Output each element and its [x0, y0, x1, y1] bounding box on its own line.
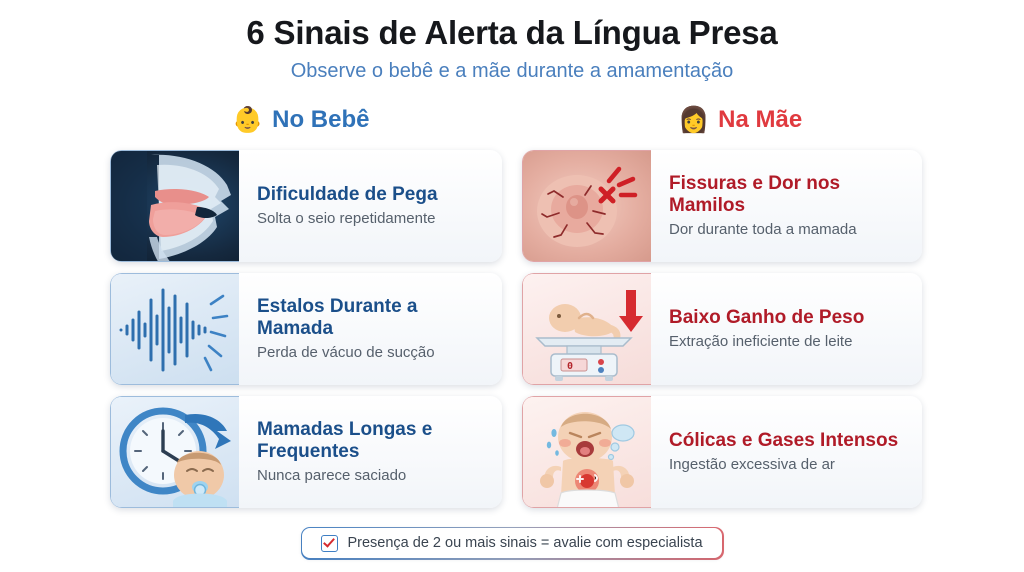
page-title: 6 Sinais de Alerta da Língua Presa: [0, 14, 1024, 52]
clock-and-sleeping-baby-illustration: [110, 396, 239, 508]
baby-face-icon: 👶: [232, 108, 263, 133]
cracked-nipple-illustration: [522, 150, 651, 262]
infographic-root: 6 Sinais de Alerta da Língua Presa Obser…: [0, 0, 1024, 572]
sign-subtitle: Perda de vácuo de sucção: [257, 344, 486, 362]
sign-subtitle: Extração ineficiente de leite: [669, 333, 906, 351]
sign-card-baby-1-text: Dificuldade de Pega Solta o seio repetid…: [239, 150, 502, 262]
sign-card-baby-3[interactable]: Mamadas Longas e Frequentes Nunca parece…: [110, 396, 502, 508]
woman-face-icon: 👩: [678, 108, 709, 133]
baby-on-scale-illustration: 0: [522, 273, 651, 385]
sign-title: Baixo Ganho de Peso: [669, 307, 906, 328]
column-header-mom: 👩 Na Mãe: [678, 106, 802, 134]
sign-card-mom-3[interactable]: Cólicas e Gases Intensos Ingestão excess…: [522, 396, 922, 508]
sign-subtitle: Ingestão excessiva de ar: [669, 456, 906, 474]
svg-text:0: 0: [567, 361, 573, 372]
sound-waveform-illustration: [110, 273, 239, 385]
sign-card-mom-2[interactable]: 0 Baixo Ganho de Peso Extração ineficien…: [522, 273, 922, 385]
footer-text: Presença de 2 ou mais sinais = avalie co…: [347, 535, 702, 551]
sign-card-mom-3-text: Cólicas e Gases Intensos Ingestão excess…: [651, 396, 922, 508]
sign-subtitle: Dor durante toda a mamada: [669, 221, 906, 239]
crying-baby-colic-illustration: [522, 396, 651, 508]
waveform-art: [111, 274, 239, 385]
sign-card-baby-2[interactable]: Estalos Durante a Mamada Perda de vácuo …: [110, 273, 502, 385]
footer-banner: Presença de 2 ou mais sinais = avalie co…: [302, 528, 722, 558]
sign-title: Fissuras e Dor nos Mamilos: [669, 173, 906, 216]
column-header-baby-label: No Bebê: [272, 106, 369, 134]
sign-card-baby-1[interactable]: Dificuldade de Pega Solta o seio repetid…: [110, 150, 502, 262]
sign-card-mom-1[interactable]: Fissuras e Dor nos Mamilos Dor durante t…: [522, 150, 922, 262]
nipple-art: [523, 151, 651, 262]
sign-card-baby-3-text: Mamadas Longas e Frequentes Nunca parece…: [239, 396, 502, 508]
scale-art: 0: [523, 274, 651, 385]
mouth-tongue-anatomy-illustration: [110, 150, 239, 262]
page-subtitle: Observe o bebê e a mãe durante a amament…: [0, 60, 1024, 83]
column-header-mom-label: Na Mãe: [718, 106, 802, 134]
sign-card-mom-1-text: Fissuras e Dor nos Mamilos Dor durante t…: [651, 150, 922, 262]
sign-card-mom-2-text: Baixo Ganho de Peso Extração ineficiente…: [651, 273, 922, 385]
sign-subtitle: Nunca parece saciado: [257, 467, 486, 485]
checkbox-checked-icon: [321, 535, 338, 552]
mouth-anatomy-art: [111, 151, 239, 262]
sign-title: Cólicas e Gases Intensos: [669, 430, 906, 451]
crying-baby-art: [523, 397, 651, 508]
clock-baby-art: [111, 397, 239, 508]
sign-title: Dificuldade de Pega: [257, 184, 486, 205]
sign-title: Mamadas Longas e Frequentes: [257, 419, 486, 462]
sign-title: Estalos Durante a Mamada: [257, 296, 486, 339]
sign-card-baby-2-text: Estalos Durante a Mamada Perda de vácuo …: [239, 273, 502, 385]
column-header-baby: 👶 No Bebê: [232, 106, 370, 134]
sign-subtitle: Solta o seio repetidamente: [257, 210, 486, 228]
